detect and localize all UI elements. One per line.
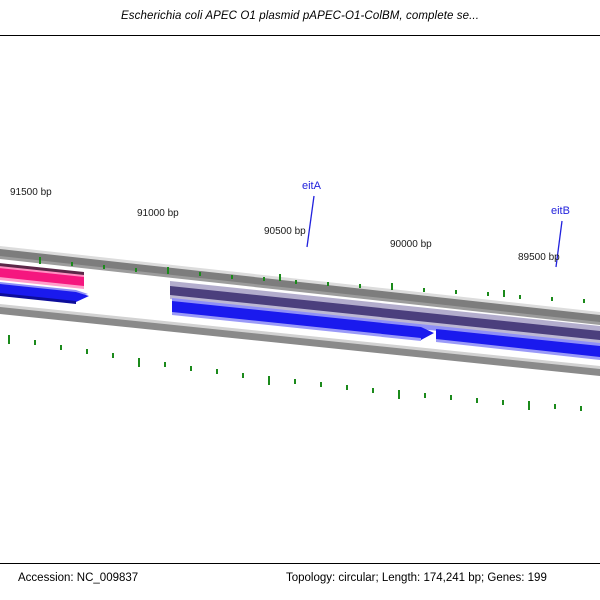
gene-label-eitA[interactable]: eitA bbox=[302, 180, 321, 192]
page-title: Escherichia coli APEC O1 plasmid pAPEC-O… bbox=[0, 10, 600, 22]
accession-text: Accession: NC_009837 bbox=[18, 572, 138, 584]
topology-text: Topology: circular; Length: 174,241 bp; … bbox=[286, 572, 547, 584]
gene-label-eitB[interactable]: eitB bbox=[551, 205, 570, 217]
bp-label-91500: 91500 bp bbox=[10, 187, 52, 198]
bp-label-91000: 91000 bp bbox=[137, 208, 179, 219]
bp-label-89500: 89500 bp bbox=[518, 252, 560, 263]
genome-viewer-window: Escherichia coli APEC O1 plasmid pAPEC-O… bbox=[0, 0, 600, 600]
genome-map-graphic bbox=[0, 36, 600, 563]
bp-label-90000: 90000 bp bbox=[390, 239, 432, 250]
footer-divider bbox=[0, 563, 600, 564]
bp-label-90500: 90500 bp bbox=[264, 226, 306, 237]
genome-map-canvas[interactable]: 91500 bp 91000 bp 90500 bp 90000 bp 8950… bbox=[0, 36, 600, 563]
